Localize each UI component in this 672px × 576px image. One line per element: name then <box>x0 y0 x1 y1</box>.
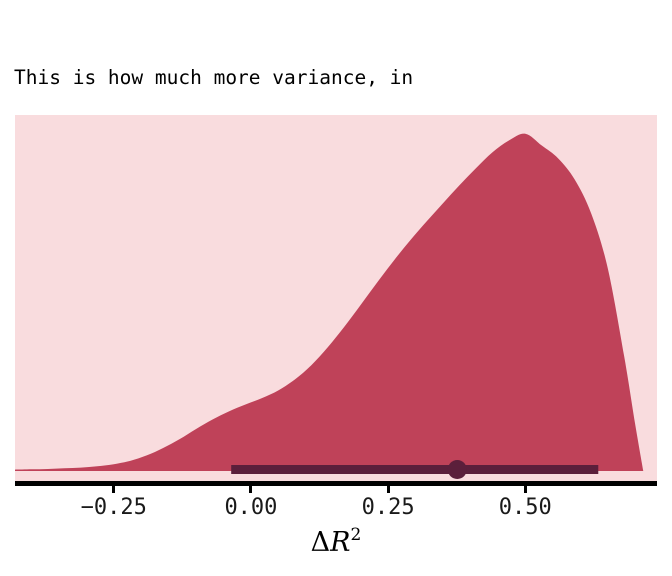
hdi-interval-bar <box>231 465 598 474</box>
x-axis-tick-mark <box>249 486 252 493</box>
density-area-shape <box>15 134 643 471</box>
x-axis-tick-mark <box>524 486 527 493</box>
figure-canvas: This is how much more variance, in terms… <box>0 0 672 576</box>
exponent-glyph: 2 <box>351 525 362 545</box>
point-estimate-marker <box>448 460 467 479</box>
delta-glyph: Δ <box>311 527 331 558</box>
density-plot <box>15 115 657 481</box>
x-axis-tick-label: 0.50 <box>465 495 585 520</box>
plot-area <box>15 115 657 481</box>
title-line-1: This is how much more variance, in <box>14 64 654 93</box>
r-variable-glyph: R <box>330 527 350 558</box>
x-axis-tick-label: 0.25 <box>328 495 448 520</box>
x-axis-tick-label: 0.00 <box>191 495 311 520</box>
x-axis-title: ΔR2 <box>0 525 672 558</box>
x-axis-tick-mark <box>387 486 390 493</box>
x-axis-tick-mark <box>112 486 115 493</box>
x-axis-tick-label: −0.25 <box>54 495 174 520</box>
